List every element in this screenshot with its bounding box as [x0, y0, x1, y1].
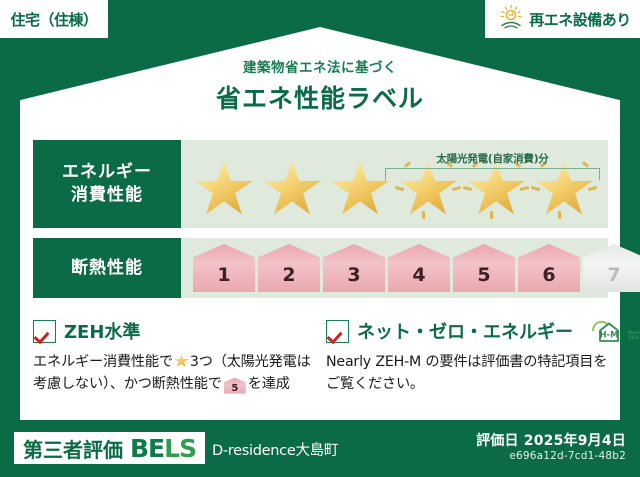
badge-building-type-label: 住宅（住棟） — [10, 9, 97, 30]
label-title-block: 建築物省エネ法に基づく 省エネ性能ラベル — [0, 56, 640, 115]
bels-logo-part1: BE — [130, 434, 164, 463]
grade-house-2: 2 — [258, 244, 320, 292]
criterion-zeh-description: エネルギー消費性能で3つ（太陽光発電は考慮しない）、かつ断熱性能で5を達成 — [33, 352, 314, 395]
criterion-nze-title: ネット・ゼロ・エネルギー — [357, 318, 573, 344]
insulation-performance-row: 断熱性能 1 2 3 4 5 6 7 — [33, 238, 608, 298]
badge-renewable-equipment: 再エネ設備あり — [485, 0, 640, 38]
svg-text:ZEH-M: ZEH-M — [628, 335, 640, 341]
badge-renewable-label: 再エネ設備あり — [529, 9, 631, 30]
energy-label-root: 住宅（住棟） 再エネ設備あり 建築 — [0, 0, 640, 477]
title-subtitle: 建築物省エネ法に基づく — [0, 56, 640, 76]
inline-grade-badge: 5 — [224, 378, 246, 394]
star-1 — [191, 157, 257, 219]
criterion-zeh-title: ZEH水準 — [64, 318, 140, 344]
sun-renewable-icon — [498, 4, 524, 34]
grade-house-6: 6 — [518, 244, 580, 292]
criterion-zeh-standard: ZEH水準 エネルギー消費性能で3つ（太陽光発電は考慮しない）、かつ断熱性能で5… — [33, 318, 314, 395]
badge-building-type: 住宅（住棟） — [0, 0, 108, 38]
insulation-grade-scale: 1 2 3 4 5 6 7 — [181, 244, 640, 292]
star-2 — [259, 157, 325, 219]
bels-certification-box: 第三者評価 BELS — [14, 432, 205, 464]
criteria-section: ZEH水準 エネルギー消費性能で3つ（太陽光発電は考慮しない）、かつ断熱性能で5… — [33, 318, 608, 395]
title-main: 省エネ性能ラベル — [0, 79, 640, 115]
grade-house-4: 4 — [388, 244, 450, 292]
solar-generation-bracket: 太陽光発電(自家消費)分 — [385, 154, 600, 180]
insulation-performance-header: 断熱性能 — [33, 238, 181, 298]
bracket-line — [385, 168, 600, 180]
star-3 — [327, 157, 393, 219]
evaluation-date: 評価日 2025年9月4日 — [476, 430, 626, 450]
gold-star-icon — [263, 161, 321, 217]
evaluation-id: e696a12d-7cd1-48b2 — [509, 450, 626, 462]
third-party-eval-label: 第三者評価 — [23, 434, 123, 463]
criterion-nze-header: ネット・ゼロ・エネルギー H-M Nearly ZEH-M — [326, 318, 608, 344]
grade-house-7: 7 — [583, 244, 640, 292]
solar-bracket-label: 太陽光発電(自家消費)分 — [385, 151, 600, 166]
footer-bar: 第三者評価 BELS D-residence大島町 評価日 2025年9月4日 … — [0, 420, 640, 477]
energy-header-line2: 消費性能 — [71, 184, 143, 207]
grade-house-3: 3 — [323, 244, 385, 292]
bels-logo-part2: LS — [164, 434, 196, 463]
criterion-net-zero-energy: ネット・ゼロ・エネルギー H-M Nearly ZEH-M Nearly ZEH… — [326, 318, 608, 395]
energy-header-line1: エネルギー — [62, 161, 152, 184]
zeh-text-part3: を達成 — [248, 376, 290, 392]
zeh-m-house-logo: H-M Nearly ZEH-M — [583, 318, 640, 344]
zeh-text-part1: エネルギー消費性能で — [33, 354, 173, 370]
bels-logo: BELS — [130, 434, 196, 463]
checkbox-checked-icon — [33, 320, 56, 343]
insulation-header-label: 断熱性能 — [71, 257, 143, 280]
checkbox-checked-icon — [326, 320, 349, 343]
grade-house-5: 5 — [453, 244, 515, 292]
criterion-zeh-header: ZEH水準 — [33, 318, 314, 344]
energy-performance-body: 太陽光発電(自家消費)分 — [181, 140, 608, 228]
insulation-performance-body: 1 2 3 4 5 6 7 — [181, 238, 640, 298]
energy-performance-header: エネルギー 消費性能 — [33, 140, 181, 228]
building-name: D-residence大島町 — [212, 439, 338, 460]
gold-star-icon — [331, 161, 389, 217]
gold-star-icon — [195, 161, 253, 217]
energy-performance-row: エネルギー 消費性能 — [33, 140, 608, 228]
criterion-nze-description: Nearly ZEH-M の要件は評価書の特記項目をご覧ください。 — [326, 352, 608, 395]
gold-star-icon — [174, 354, 189, 368]
grade-house-1: 1 — [193, 244, 255, 292]
svg-text:H-M: H-M — [600, 329, 619, 339]
